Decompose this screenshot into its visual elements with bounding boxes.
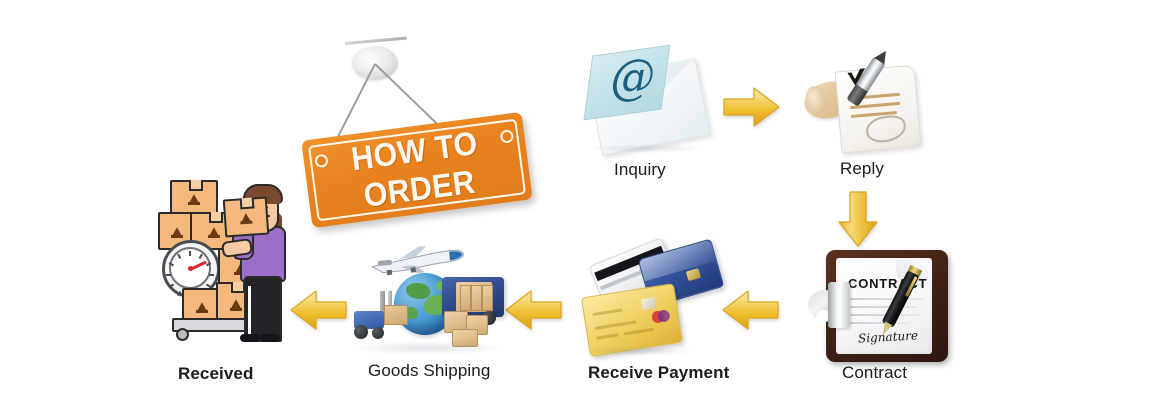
- card-text-line: [596, 333, 618, 339]
- container-cargo: [482, 285, 493, 311]
- step-contract-icon: CONTRACT Signature: [808, 250, 948, 362]
- step-received-icon: [158, 178, 288, 358]
- scale-face: [169, 247, 211, 289]
- label-received: Received: [178, 364, 253, 384]
- step-receive-payment-icon: [585, 250, 705, 355]
- box-tape: [209, 212, 223, 223]
- arrow-left-icon: [722, 288, 780, 332]
- card-brand-logo-icon: [651, 310, 668, 324]
- box-marking: [208, 235, 220, 238]
- scale-hub: [188, 266, 193, 271]
- scale-tick: [189, 251, 191, 256]
- label-contract: Contract: [842, 363, 907, 383]
- box-tape: [189, 180, 203, 191]
- sign-plate: HOW TO ORDER: [301, 112, 533, 228]
- clipboard-clip-icon: [808, 278, 866, 328]
- card-chip-icon: [641, 297, 657, 310]
- scale-tick: [169, 284, 174, 288]
- container-cargo: [471, 285, 482, 311]
- box-marking: [240, 221, 252, 225]
- forklift-icon: [350, 291, 408, 339]
- box-marking: [196, 310, 208, 313]
- scale-tick: [169, 262, 174, 266]
- sign-rod: [345, 37, 407, 45]
- scale-tick: [199, 254, 203, 259]
- at-symbol-icon: @: [607, 50, 660, 102]
- label-receive-payment: Receive Payment: [588, 363, 729, 383]
- scale-tick: [166, 274, 171, 276]
- cards-shadow: [585, 346, 695, 356]
- box-tape: [240, 197, 255, 209]
- card-text-line: [624, 328, 654, 335]
- card-chip-icon: [686, 268, 701, 281]
- scale-tick: [209, 274, 214, 276]
- scale-tick: [177, 254, 181, 259]
- label-goods-shipping: Goods Shipping: [368, 361, 490, 381]
- forklift-wheel: [372, 327, 384, 339]
- cart-wheel: [176, 328, 189, 341]
- step-reply-icon: [800, 50, 928, 150]
- diagram-canvas: HOW TO ORDER @ Inquiry: [0, 0, 1151, 414]
- card-text-line: [595, 320, 637, 329]
- box-marking: [188, 202, 200, 205]
- card-text-line: [592, 308, 622, 315]
- scale-tick: [177, 291, 181, 296]
- container-cargo: [460, 285, 471, 311]
- label-inquiry: Inquiry: [614, 160, 666, 180]
- arrow-down-icon: [836, 190, 880, 248]
- forklift-cargo-box: [384, 305, 408, 325]
- shoe: [240, 334, 260, 342]
- label-reply: Reply: [840, 159, 884, 179]
- clip-plate: [828, 282, 850, 328]
- stacked-box: [170, 180, 218, 216]
- globe-landmass: [406, 283, 430, 299]
- box-marking: [171, 235, 183, 238]
- arrow-left-icon: [505, 288, 563, 332]
- step-goods-shipping-icon: [348, 245, 508, 357]
- shoe: [260, 334, 280, 342]
- arrow-right-icon: [722, 85, 782, 129]
- sign-title: HOW TO ORDER: [311, 119, 523, 221]
- arrow-left-icon: [290, 288, 348, 332]
- forklift-wheel: [354, 325, 368, 339]
- held-box: [223, 197, 270, 238]
- leg-separation: [248, 286, 251, 336]
- how-to-order-sign: HOW TO ORDER: [300, 38, 540, 243]
- step-inquiry-icon: @: [585, 52, 710, 152]
- shipping-shadow: [352, 341, 502, 355]
- envelope-shadow: [589, 144, 705, 153]
- envelope-flap: @: [583, 45, 670, 121]
